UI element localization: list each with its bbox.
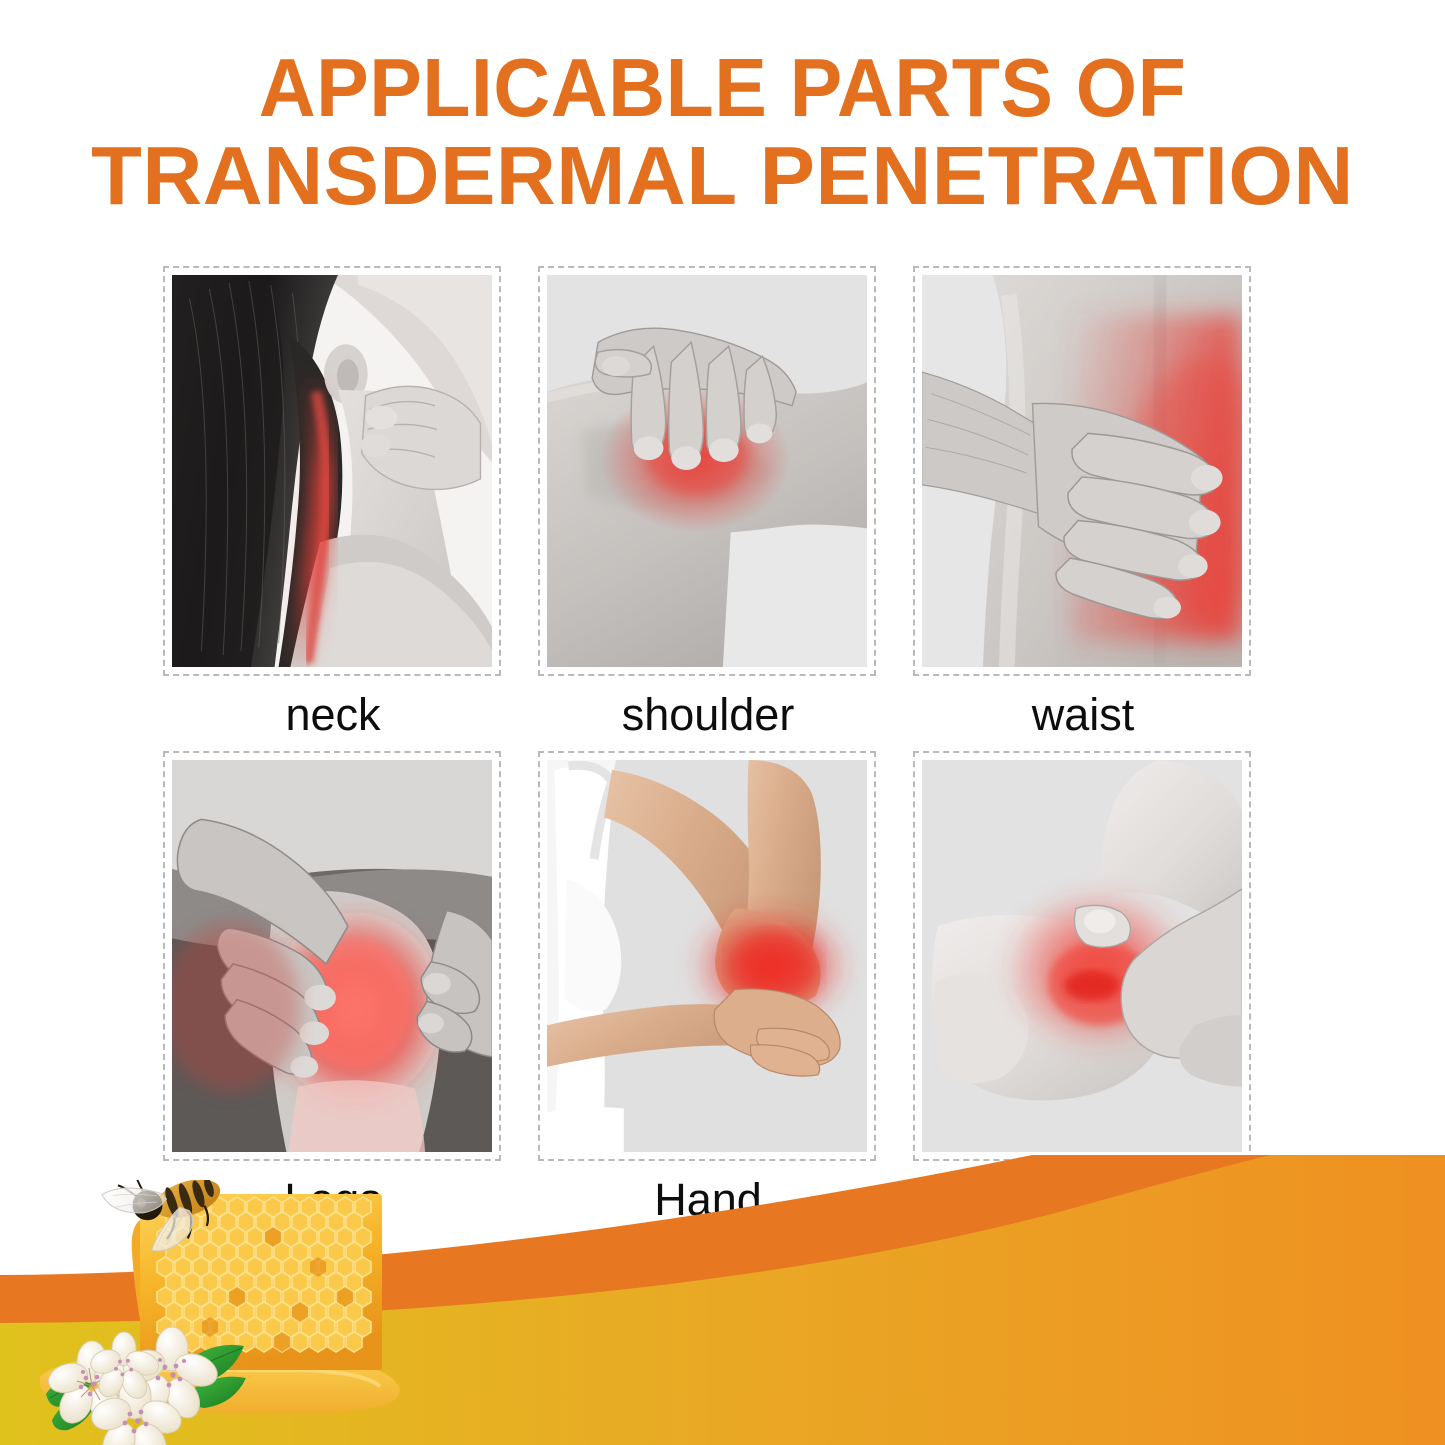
- knee-pain-photo: [172, 760, 492, 1152]
- waist-pain-photo: [922, 275, 1242, 667]
- photo-frame: [163, 266, 501, 676]
- grid-cell-waist: waist: [913, 266, 1253, 751]
- cell-label: Hand: [538, 1161, 878, 1236]
- page-title-line-1: APPLICABLE PARTS OF: [36, 44, 1409, 132]
- page-title-line-2: TRANSDERMAL PENETRATION: [0, 132, 1445, 220]
- infographic-page: APPLICABLE PARTS OF TRANSDERMAL PENETRAT…: [0, 0, 1445, 1445]
- elbow-pain-photo: [547, 760, 867, 1152]
- cell-label: neck: [163, 676, 503, 751]
- body-parts-grid: neck: [163, 266, 1283, 1236]
- shoulder-pain-photo: [547, 275, 867, 667]
- grid-cell-neck: neck: [163, 266, 503, 751]
- neck-pain-photo: [172, 275, 492, 667]
- photo-frame: [913, 751, 1251, 1161]
- cell-label: waist: [913, 676, 1253, 751]
- honeycomb-with-bee-and-flowers: [12, 1180, 442, 1445]
- cell-label: Feet: [913, 1161, 1253, 1236]
- page-title: APPLICABLE PARTS OF TRANSDERMAL PENETRAT…: [0, 44, 1445, 220]
- cell-label: shoulder: [538, 676, 878, 751]
- photo-frame: [913, 266, 1251, 676]
- grid-cell-hand: Hand: [538, 751, 878, 1236]
- photo-frame: [538, 751, 876, 1161]
- grid-cell-legs: Legs: [163, 751, 503, 1236]
- photo-frame: [163, 751, 501, 1161]
- photo-frame: [538, 266, 876, 676]
- grid-cell-feet: Feet: [913, 751, 1253, 1236]
- grid-cell-shoulder: shoulder: [538, 266, 878, 751]
- ankle-pain-photo: [922, 760, 1242, 1152]
